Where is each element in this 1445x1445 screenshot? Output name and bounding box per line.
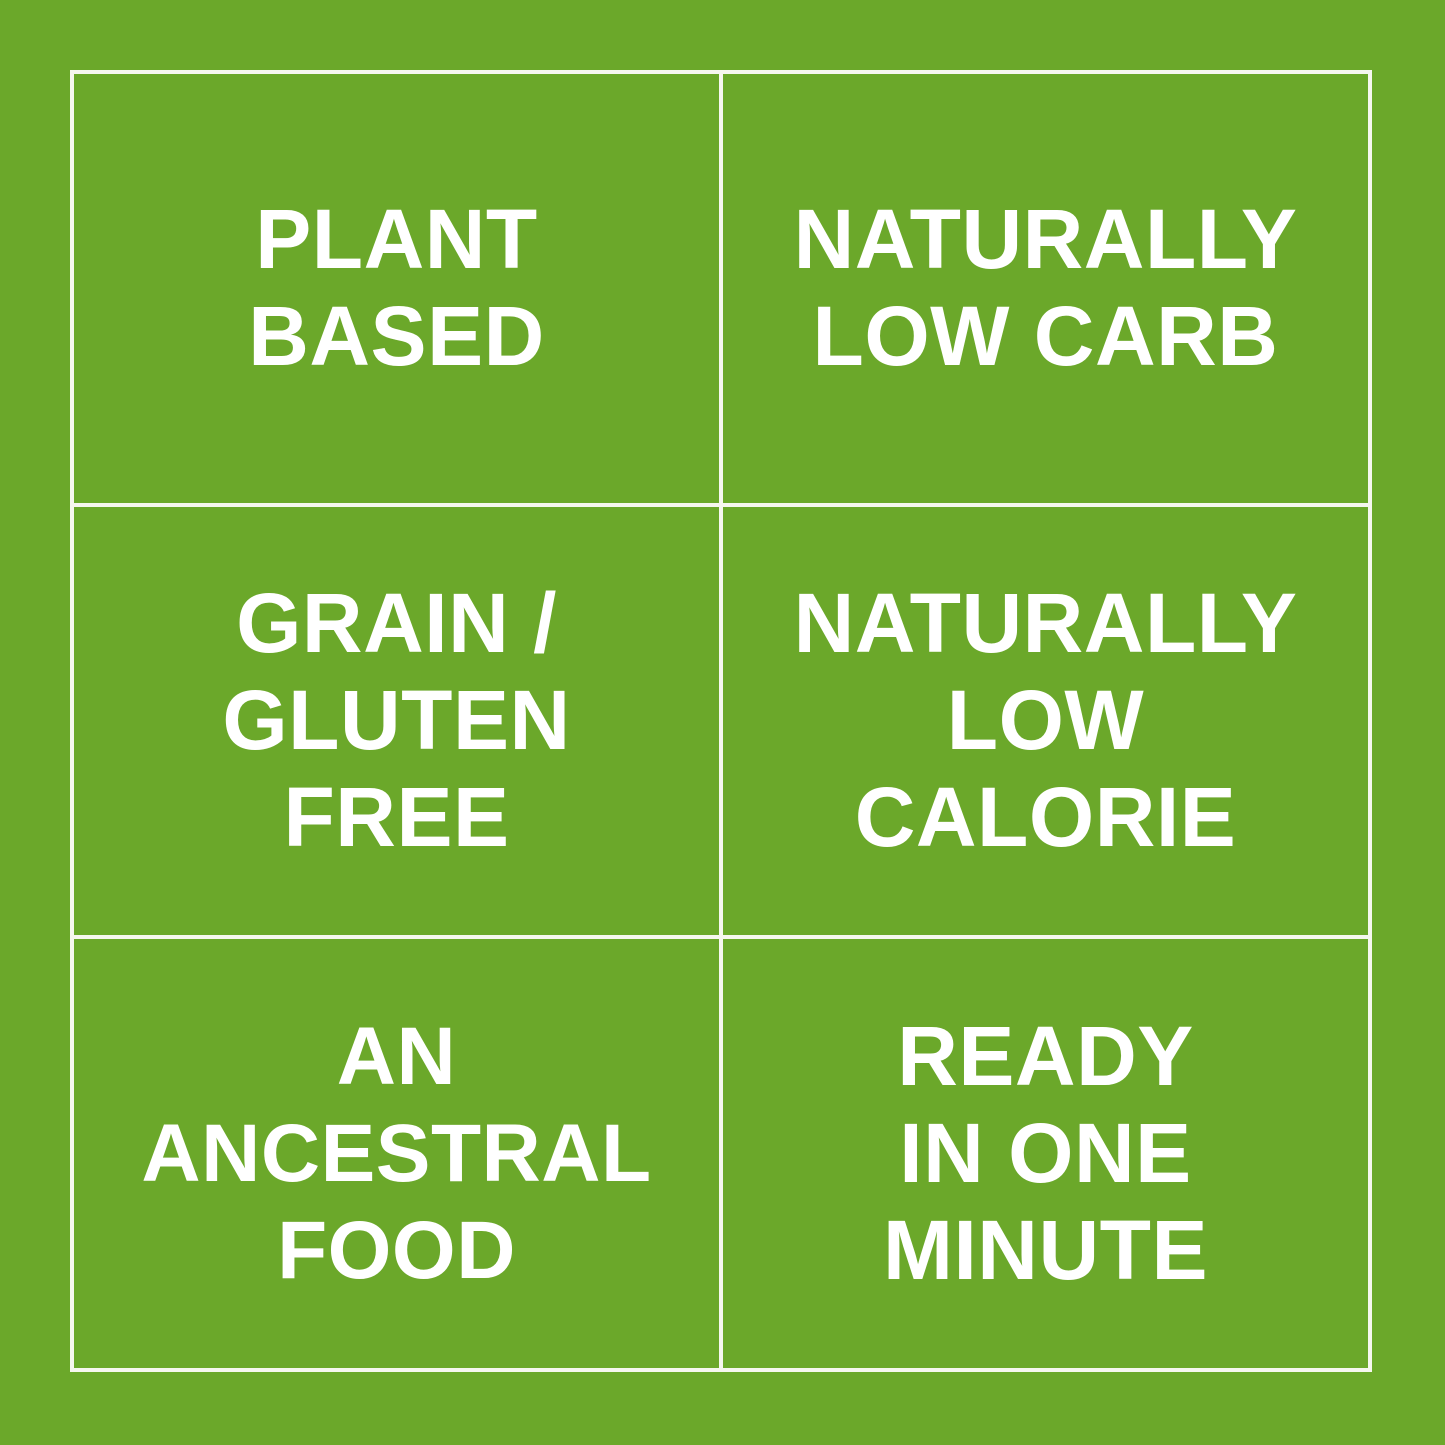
benefit-label: NATURALLY LOW CARB <box>784 191 1308 385</box>
benefit-cell-plant-based: PLANT BASED <box>74 74 719 503</box>
benefit-label: NATURALLY LOW CALORIE <box>784 575 1308 866</box>
benefits-panel: PLANT BASED NATURALLY LOW CARB GRAIN / G… <box>0 0 1445 1445</box>
benefit-label: GRAIN / GLUTEN FREE <box>212 575 580 866</box>
benefits-grid: PLANT BASED NATURALLY LOW CARB GRAIN / G… <box>70 70 1372 1372</box>
benefit-label: AN ANCESTRAL FOOD <box>131 1008 661 1299</box>
benefit-cell-naturally-low-calorie: NATURALLY LOW CALORIE <box>723 507 1368 936</box>
benefit-cell-an-ancestral-food: AN ANCESTRAL FOOD <box>74 939 719 1368</box>
benefit-cell-naturally-low-carb: NATURALLY LOW CARB <box>723 74 1368 503</box>
benefit-label: PLANT BASED <box>238 191 555 385</box>
benefit-cell-ready-in-one-minute: READY IN ONE MINUTE <box>723 939 1368 1368</box>
benefit-label: READY IN ONE MINUTE <box>873 1008 1218 1299</box>
benefit-cell-grain-gluten-free: GRAIN / GLUTEN FREE <box>74 507 719 936</box>
